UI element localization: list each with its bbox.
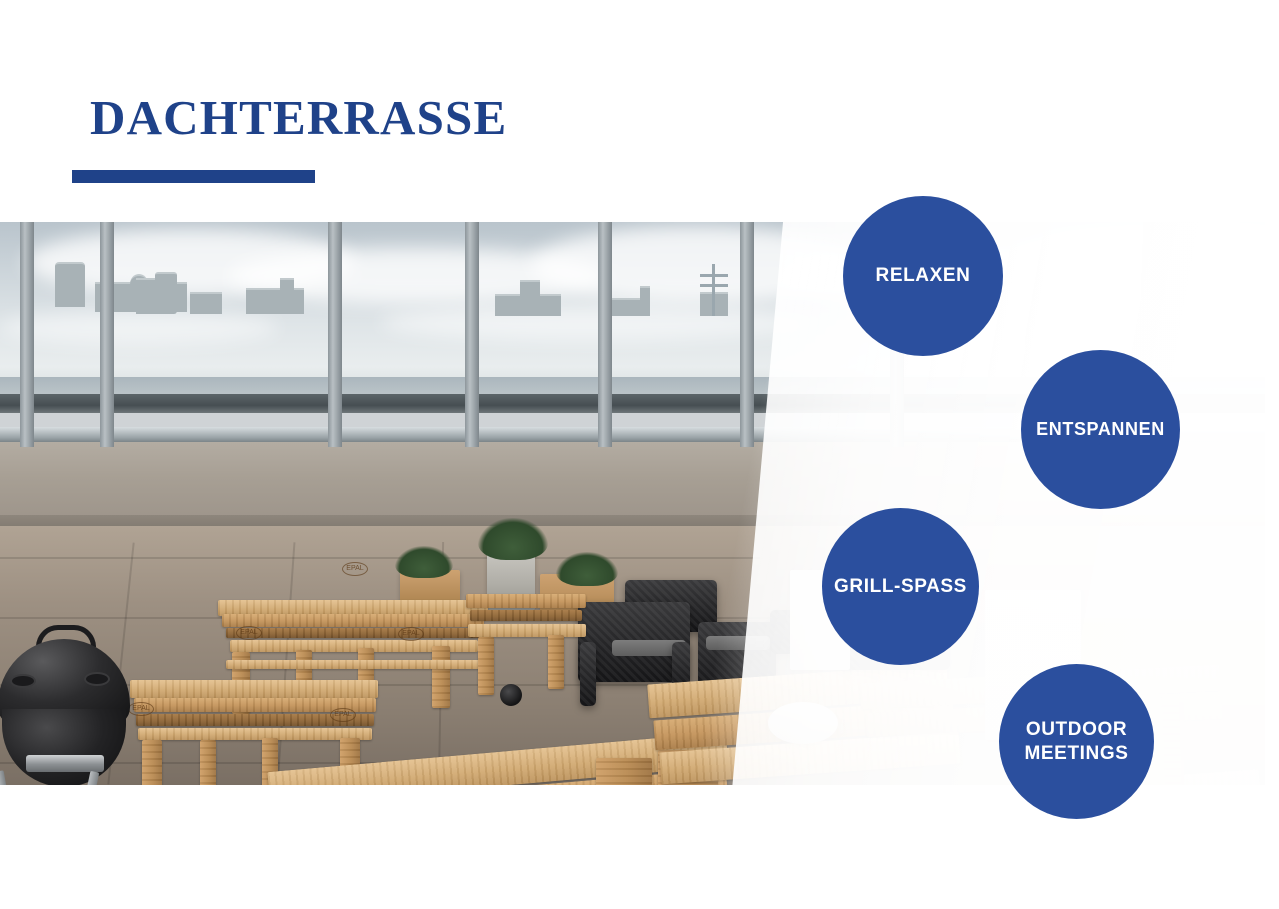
- epal-stamp: EPAL: [128, 702, 154, 716]
- steel-post: [465, 222, 479, 447]
- rooftop-unit: [640, 286, 650, 316]
- pallet-bench-slat: [138, 728, 372, 740]
- feature-circle-label: OUTDOOR MEETINGS: [1024, 718, 1128, 764]
- pallet-stack: [470, 610, 582, 621]
- grill-vent-icon: [84, 672, 110, 686]
- feature-circle-relaxen[interactable]: RELAXEN: [843, 196, 1003, 356]
- epal-stamp: EPAL: [398, 627, 424, 641]
- feature-circle-label: GRILL-SPASS: [834, 575, 967, 598]
- rooftop-unit: [190, 292, 222, 314]
- rooftop-unit: [55, 262, 85, 307]
- steel-post: [598, 222, 612, 447]
- pallet-bench-leg: [142, 740, 162, 785]
- epal-stamp: EPAL: [236, 626, 262, 640]
- pallet-stack-leg: [478, 637, 494, 695]
- planter-greenery: [478, 518, 548, 560]
- round-container: [768, 702, 838, 744]
- feature-circle-entspannen[interactable]: ENTSPANNEN: [1021, 350, 1180, 509]
- grill-vent-icon: [10, 674, 36, 688]
- pallet-table-leg: [432, 646, 450, 708]
- steel-post: [328, 222, 342, 447]
- foreground-bench-leg: [596, 758, 652, 785]
- title-underline-rule: [72, 170, 315, 183]
- title-block: DACHTERRASSE: [90, 93, 507, 142]
- antenna-mast: [700, 284, 728, 287]
- pallet-stack-leg: [548, 635, 564, 689]
- steel-post: [740, 222, 754, 447]
- pallet-table-top: [222, 614, 484, 627]
- pallet-bench-seat: [130, 680, 378, 698]
- pallet-stack: [466, 594, 586, 608]
- pallet-caster-wheel: [500, 684, 522, 706]
- feature-circle-label: RELAXEN: [876, 264, 971, 287]
- rooftop-unit: [520, 280, 540, 316]
- epal-stamp: EPAL: [330, 708, 356, 722]
- chair-cushion: [706, 636, 770, 650]
- antenna-mast: [712, 264, 715, 316]
- rooftop-unit: [246, 288, 304, 314]
- pallet-table-slat: [226, 660, 480, 669]
- rooftop-unit: [280, 278, 294, 314]
- floor-joint: [0, 557, 760, 559]
- antenna-mast: [700, 274, 728, 277]
- page-title: DACHTERRASSE: [90, 93, 507, 142]
- pallet-bench-leg: [200, 740, 216, 785]
- steel-post: [100, 222, 114, 447]
- slide-root: DACHTERRASSE: [0, 0, 1279, 909]
- steel-post: [20, 222, 34, 447]
- feature-circle-label: ENTSPANNEN: [1036, 419, 1165, 441]
- cloud-shape: [0, 311, 278, 344]
- rooftop-unit: [155, 272, 177, 314]
- planter-greenery: [395, 546, 453, 578]
- pallet-table-slat: [226, 628, 482, 638]
- planter-greenery: [556, 552, 618, 586]
- feature-circle-grill-spass[interactable]: GRILL-SPASS: [822, 508, 979, 665]
- epal-stamp: EPAL: [342, 562, 368, 576]
- feature-circle-outdoor-meetings[interactable]: OUTDOOR MEETINGS: [999, 664, 1154, 819]
- grill-ash-catcher: [26, 755, 104, 772]
- pallet-stack: [468, 624, 586, 637]
- rattan-armchair-arm: [580, 642, 596, 706]
